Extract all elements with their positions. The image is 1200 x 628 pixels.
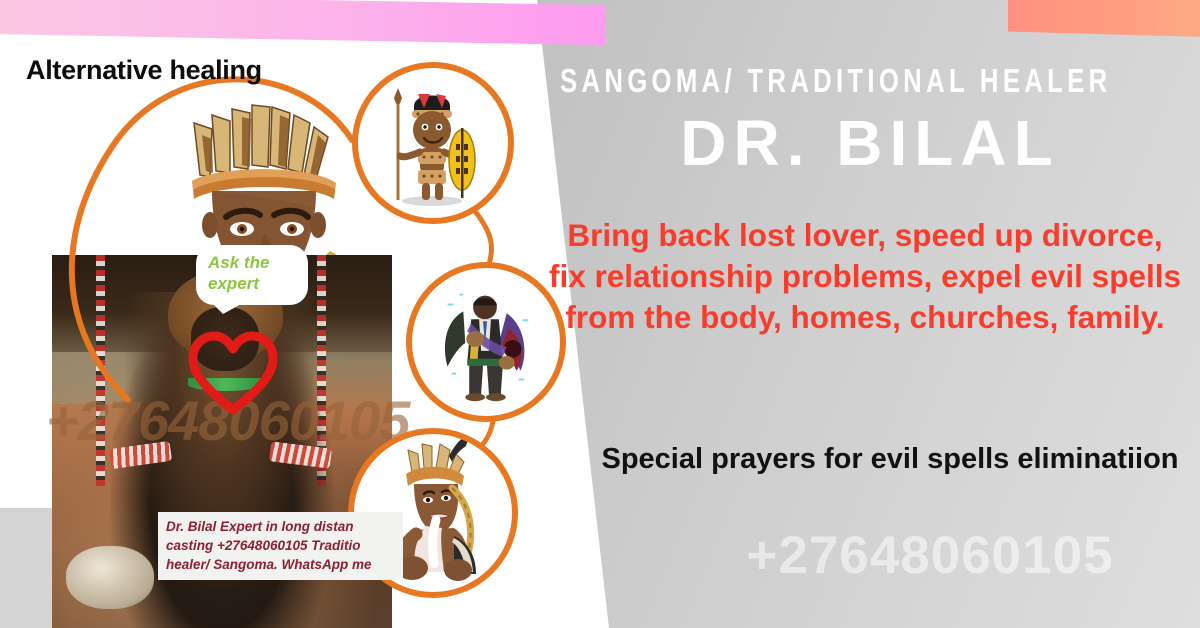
circle-caped-healer [406, 262, 566, 422]
poster-canvas: Alternative healing [0, 0, 1200, 628]
heart-icon [185, 330, 281, 416]
caped-healer-icon [412, 268, 560, 416]
page-title: Alternative healing [26, 55, 262, 86]
special-prayers-text: Special prayers for evil spells eliminat… [600, 440, 1180, 478]
speech-bubble-text: Ask the expert [208, 252, 308, 295]
photo-caption-text: Dr. Bilal Expert in long distan casting … [166, 517, 395, 574]
kicker-text: SANGOMA/ TRADITIONAL HEALER [560, 62, 1044, 100]
services-text: Bring back lost lover, speed up divorce,… [545, 215, 1185, 338]
circle-zulu-warrior [352, 62, 514, 224]
zulu-warrior-cartoon-icon [358, 68, 508, 218]
brand-name: DR. BILAL [560, 106, 1180, 180]
photo-caption-box: Dr. Bilal Expert in long distan casting … [158, 512, 403, 580]
phone-watermark: +27648060105 [660, 525, 1200, 586]
